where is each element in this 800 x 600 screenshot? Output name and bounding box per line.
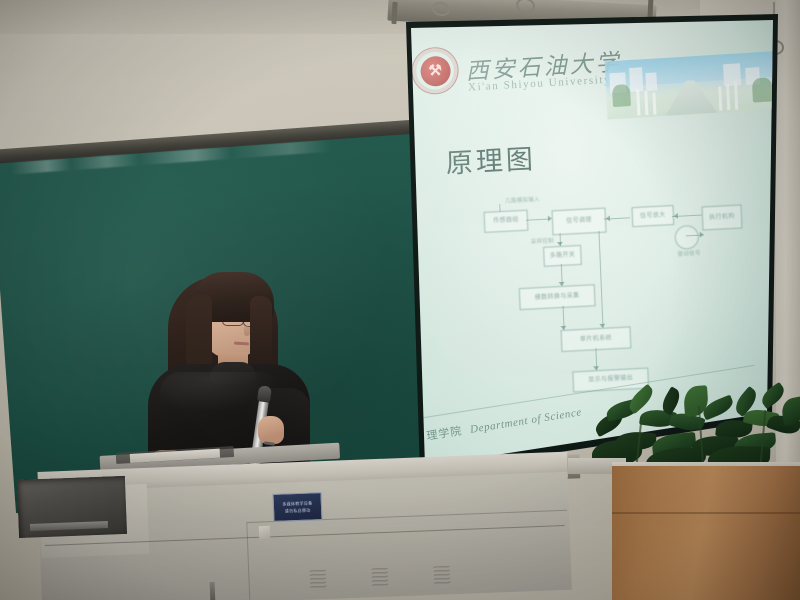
console-label-line2: 请勿私自挪动: [285, 507, 311, 514]
console-label-line1: 多媒体教学设备: [282, 500, 312, 507]
diagram-feedback-link: [598, 231, 603, 328]
presenter-hand-holding-mic: [258, 416, 284, 444]
banner-tree: [612, 84, 631, 107]
diagram-arrow: [559, 282, 565, 286]
console-foot: [210, 582, 216, 600]
banner-building: [723, 63, 741, 86]
console-cabinet-door[interactable]: [246, 510, 570, 600]
microphone-head-icon: [257, 385, 272, 403]
banner-column: [636, 90, 640, 116]
presenter-hair-right: [250, 296, 272, 374]
diagram-arrow: [560, 326, 566, 330]
diagram-arrow: [599, 324, 605, 328]
banner-column: [734, 82, 738, 110]
diagram-node: 模数转换与采集: [519, 284, 596, 310]
slide-title: 原理图: [445, 137, 537, 181]
diagram-arrow: [557, 242, 563, 246]
slide-footer-cn: 理学院: [426, 425, 463, 442]
university-logo-icon: ⚒: [411, 46, 459, 95]
diagram-node: 执行机构: [702, 204, 743, 230]
console-vent: [310, 570, 327, 591]
diagram-node: 信号放大: [631, 205, 674, 227]
banner-column: [726, 84, 730, 110]
console-lock-icon[interactable]: [259, 526, 270, 539]
banner-tree: [752, 77, 773, 102]
classroom-photo-scene: ⚒ 西安石油大学 Xi'an Shiyou University: [0, 0, 800, 600]
teaching-console[interactable]: 多媒体教学设备 请勿私自挪动: [0, 452, 680, 600]
diagram-node: 传感器组: [484, 210, 529, 233]
planter-seam: [612, 512, 800, 514]
planter-box: [612, 466, 800, 600]
diagram-arrow: [593, 366, 599, 370]
slide-footer: 理学院Department of Science: [425, 403, 582, 443]
diagram-node: 多路开关: [543, 245, 582, 267]
campus-banner-image: [605, 51, 776, 119]
banner-column: [644, 91, 648, 115]
diagram-arrow: [700, 231, 704, 237]
diagram-arrow: [674, 213, 678, 219]
banner-column: [718, 87, 722, 111]
banner-column: [652, 93, 656, 115]
diagram-circle-node: [674, 225, 699, 250]
diagram-side-label: 驱动信号: [677, 249, 701, 258]
leaf: [780, 396, 800, 425]
diagram-side-label: 采样控制: [531, 236, 555, 245]
diagram-link: [526, 218, 550, 220]
console-vent: [372, 568, 389, 589]
console-vent: [434, 566, 451, 587]
console-label-plate: 多媒体教学设备 请勿私自挪动: [272, 492, 322, 522]
banner-walkway: [664, 79, 718, 116]
diagram-arrow: [606, 215, 610, 221]
university-logo-core: ⚒: [420, 55, 451, 86]
diagram-arrow: [548, 215, 552, 221]
diagram-top-label: 几路模拟输入: [505, 195, 540, 205]
banner-building: [629, 67, 643, 92]
banner-building: [645, 72, 657, 91]
slide-footer-en: Department of Science: [469, 406, 582, 436]
